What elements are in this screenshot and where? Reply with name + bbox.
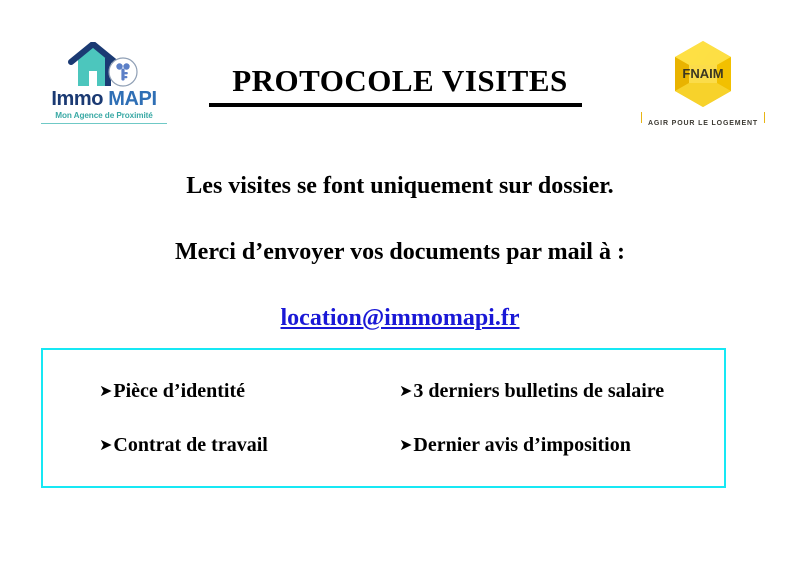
fnaim-logo: FNAIM AGIR POUR LE LOGEMENT: [638, 38, 768, 130]
body-line-2: Merci d’envoyer vos documents par mail à…: [0, 237, 800, 267]
arrow-bullet-icon: ➤: [99, 432, 112, 458]
fnaim-tagline-wrap: AGIR POUR LE LOGEMENT: [641, 112, 765, 130]
document-page: Immo MAPI Mon Agence de Proximité PROTOC…: [0, 0, 800, 565]
document-item-label: 3 derniers bulletins de salaire: [413, 378, 664, 404]
arrow-bullet-icon: ➤: [399, 432, 412, 458]
list-item: ➤ Dernier avis d’imposition: [399, 432, 724, 459]
document-item-label: Dernier avis d’imposition: [413, 432, 630, 458]
email-line: location@immomapi.fr: [0, 303, 800, 333]
immo-mapi-underline-rule: [41, 123, 167, 124]
arrow-bullet-icon: ➤: [99, 378, 112, 404]
list-item: ➤ Contrat de travail: [99, 432, 399, 459]
page-title: PROTOCOLE VISITES: [170, 63, 630, 99]
immo-mapi-logo: Immo MAPI Mon Agence de Proximité: [40, 42, 168, 124]
required-documents-box: ➤ Pièce d’identité ➤ 3 derniers bulletin…: [41, 348, 726, 488]
immo-mapi-word-mapi: MAPI: [108, 88, 156, 110]
body-line-1: Les visites se font uniquement sur dossi…: [0, 171, 800, 201]
immo-mapi-tagline: Mon Agence de Proximité: [40, 110, 168, 121]
house-key-icon: [40, 42, 168, 88]
arrow-bullet-icon: ➤: [399, 378, 412, 404]
list-item: ➤ Pièce d’identité: [99, 378, 399, 405]
document-header: Immo MAPI Mon Agence de Proximité PROTOC…: [0, 0, 800, 145]
document-item-label: Contrat de travail: [113, 432, 267, 458]
body-text-block: Les visites se font uniquement sur dossi…: [0, 160, 800, 333]
fnaim-tagline: AGIR POUR LE LOGEMENT: [648, 120, 758, 127]
required-documents-grid: ➤ Pièce d’identité ➤ 3 derniers bulletin…: [43, 350, 724, 486]
email-link[interactable]: location@immomapi.fr: [281, 305, 520, 331]
document-item-label: Pièce d’identité: [113, 378, 245, 404]
page-title-underline: [209, 103, 582, 107]
fnaim-diamond-icon: FNAIM: [638, 38, 768, 110]
list-item: ➤ 3 derniers bulletins de salaire: [399, 378, 724, 405]
svg-text:FNAIM: FNAIM: [682, 66, 723, 81]
immo-mapi-wordmark: Immo MAPI: [40, 88, 168, 110]
immo-mapi-word-immo: Immo: [51, 88, 108, 110]
